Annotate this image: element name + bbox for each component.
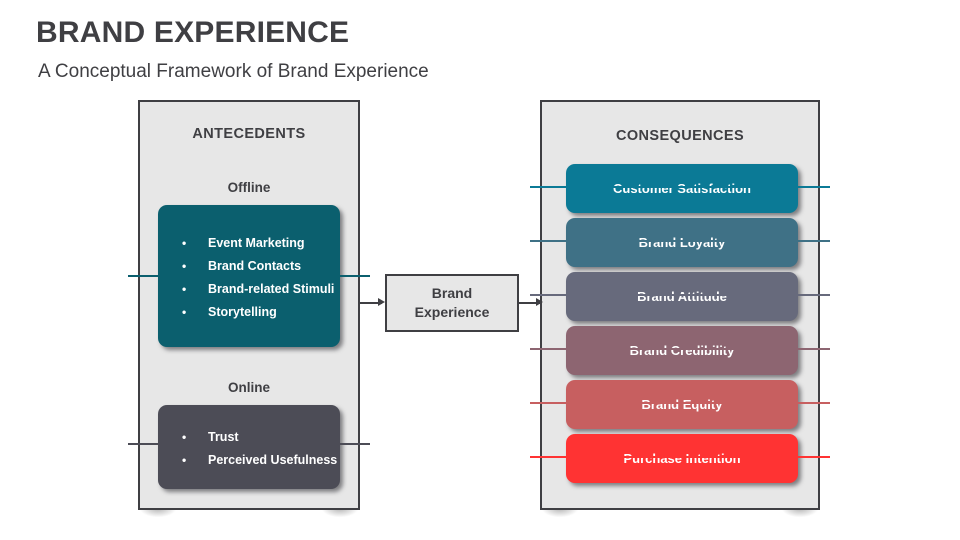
consequence-connector-line [530, 402, 830, 404]
consequences-panel-shadow [540, 508, 820, 534]
brand-experience-line2: Experience [415, 303, 490, 322]
consequence-connector-line [530, 186, 830, 188]
online-item-list: Trust Perceived Usefulness [180, 426, 332, 472]
consequence-connector-line [530, 456, 830, 458]
consequence-label: Brand Equity [642, 397, 723, 412]
consequence-connector-line [530, 240, 830, 242]
online-connector-line [128, 443, 370, 445]
consequence-box-brand-credibility[interactable]: Brand Credibility [566, 326, 798, 375]
consequences-heading: CONSEQUENCES [542, 128, 818, 144]
consequence-connector-line [530, 294, 830, 296]
list-item: Storytelling [180, 301, 332, 324]
consequence-box-brand-attitude[interactable]: Brand Attitude [566, 272, 798, 321]
consequence-box-customer-satisfaction[interactable]: Customer Satisfaction [566, 164, 798, 213]
arrow-head-left-icon [378, 298, 385, 306]
list-item: Perceived Usefulness [180, 449, 332, 472]
online-group-label: Online [140, 380, 358, 395]
brand-experience-box[interactable]: Brand Experience [385, 274, 519, 332]
offline-item-list: Event Marketing Brand Contacts Brand-rel… [180, 232, 332, 324]
consequence-label: Brand Attitude [637, 289, 727, 304]
consequences-panel: CONSEQUENCES Customer Satisfaction Brand… [540, 100, 820, 510]
consequence-label: Customer Satisfaction [613, 181, 751, 196]
antecedents-panel-shadow [138, 508, 360, 534]
consequence-label: Brand Loyalty [639, 235, 726, 250]
list-item: Trust [180, 426, 332, 449]
antecedents-heading: ANTECEDENTS [140, 126, 358, 142]
online-antecedents-box[interactable]: Trust Perceived Usefulness [158, 405, 340, 489]
page-subtitle: A Conceptual Framework of Brand Experien… [38, 61, 429, 83]
consequence-label: Brand Credibility [630, 343, 735, 358]
consequence-connector-line [530, 348, 830, 350]
offline-group-label: Offline [140, 180, 358, 195]
list-item: Brand-related Stimuli [180, 278, 332, 301]
page-title: BRAND EXPERIENCE [36, 16, 349, 50]
consequence-box-brand-equity[interactable]: Brand Equity [566, 380, 798, 429]
consequence-box-brand-loyalty[interactable]: Brand Loyalty [566, 218, 798, 267]
antecedents-panel: ANTECEDENTS Offline Online Event Marketi… [138, 100, 360, 510]
offline-connector-line [128, 275, 370, 277]
consequence-label: Purchase Intention [623, 451, 740, 466]
list-item: Event Marketing [180, 232, 332, 255]
consequence-box-purchase-intention[interactable]: Purchase Intention [566, 434, 798, 483]
arrow-head-right-icon [536, 298, 543, 306]
brand-experience-line1: Brand [432, 284, 472, 303]
